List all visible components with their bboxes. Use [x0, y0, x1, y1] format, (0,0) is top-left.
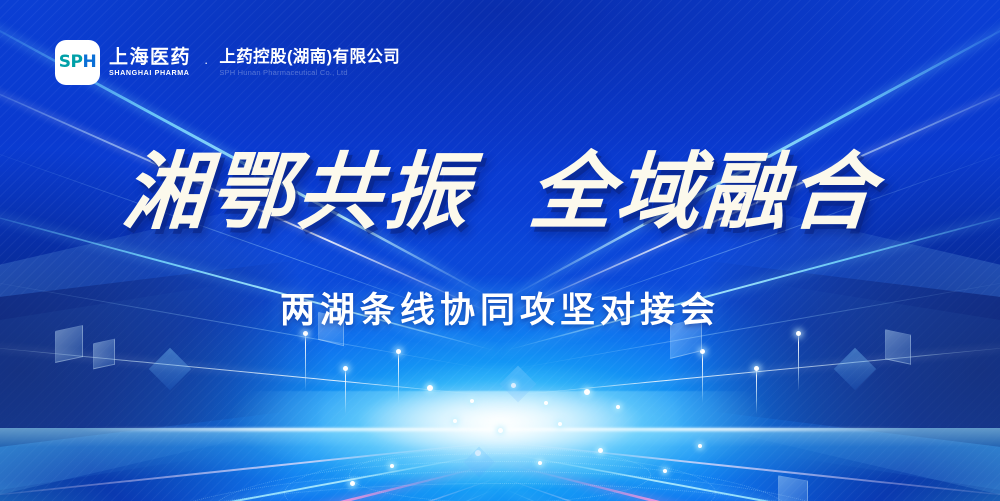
- subsidiary-name-cn: 上药控股(湖南)有限公司: [219, 49, 400, 66]
- sph-logo-icon: SPH: [55, 40, 100, 85]
- subsidiary-name-en: SPH Hunan Pharmaceutical Co., Ltd: [219, 69, 400, 77]
- vanishing-point-glow: [320, 366, 680, 486]
- sph-letter-h: H: [82, 52, 96, 72]
- subtitle-text: 两湖条线协同攻坚对接会: [280, 293, 720, 328]
- brand-logo[interactable]: SPH 上海医药 SHANGHAI PHARMA · 上药控股(湖南)有限公司 …: [55, 40, 400, 85]
- company-name-cn: 上海医药: [109, 48, 191, 67]
- company-name-en: SHANGHAI PHARMA: [109, 70, 193, 77]
- event-banner: SPH 上海医药 SHANGHAI PHARMA · 上药控股(湖南)有限公司 …: [0, 0, 1000, 501]
- headline: 湘鄂共振 全域融合: [0, 150, 1000, 234]
- sph-letter-p: P: [71, 52, 83, 72]
- sph-letter-s: S: [59, 52, 71, 72]
- headline-part-2: 全域融合: [526, 150, 880, 234]
- subtitle: 两湖条线协同攻坚对接会: [0, 293, 1000, 328]
- logo-separator-dot: ·: [204, 55, 208, 70]
- subsidiary-block: 上药控股(湖南)有限公司 SPH Hunan Pharmaceutical Co…: [219, 49, 400, 77]
- sph-logo-letters: SPH: [59, 54, 96, 71]
- headline-part-1: 湘鄂共振: [120, 150, 474, 234]
- parent-company-block: 上海医药 SHANGHAI PHARMA: [109, 48, 191, 77]
